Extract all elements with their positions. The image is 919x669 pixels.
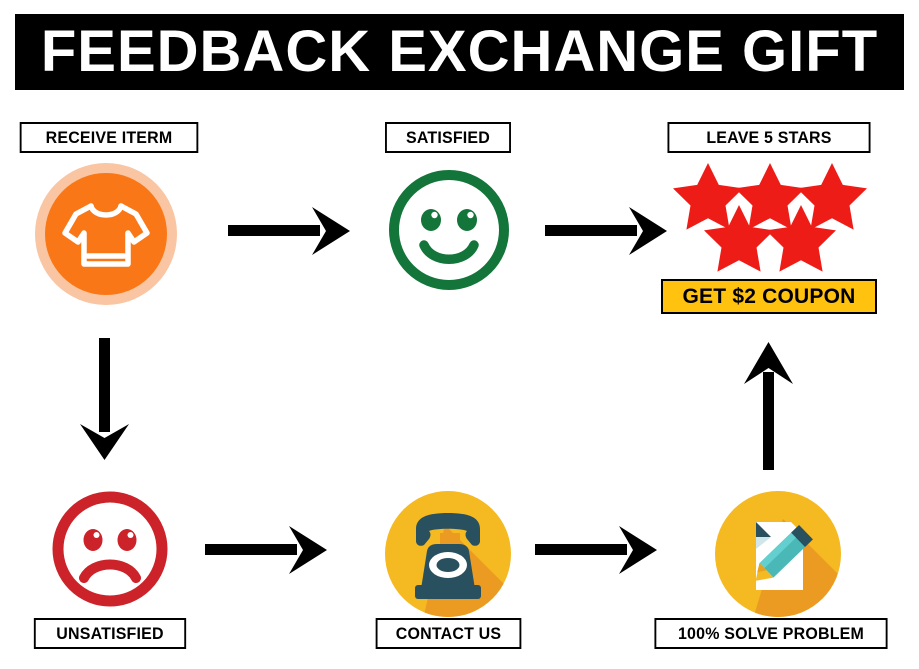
- label-satisfied-text: SATISFIED: [406, 128, 490, 148]
- label-contact-us: CONTACT US: [376, 618, 522, 649]
- arrow-receive-to-unsatisfied: [78, 338, 132, 462]
- smiley-face-icon: [384, 165, 514, 295]
- telephone-circle-icon: [383, 489, 513, 619]
- label-leave-5-stars: LEAVE 5 STARS: [667, 122, 870, 153]
- label-solve-problem-text: 100% SOLVE PROBLEM: [678, 624, 864, 644]
- arrow-contact-to-solve: [535, 524, 659, 576]
- label-receive-item-text: RECEIVE ITERM: [46, 128, 173, 148]
- label-unsatisfied: UNSATISFIED: [34, 618, 186, 649]
- label-receive-item: RECEIVE ITERM: [20, 122, 199, 153]
- arrow-unsatisfied-to-contact: [205, 524, 329, 576]
- label-solve-problem: 100% SOLVE PROBLEM: [654, 618, 887, 649]
- tshirt-circle-icon: [34, 162, 178, 306]
- arrow-receive-to-satisfied: [228, 205, 352, 257]
- label-satisfied: SATISFIED: [385, 122, 511, 153]
- five-stars-icon: [672, 163, 868, 273]
- arrow-satisfied-to-stars: [545, 205, 669, 257]
- label-leave-5-stars-text: LEAVE 5 STARS: [706, 128, 831, 148]
- label-contact-us-text: CONTACT US: [396, 624, 501, 644]
- document-pencil-circle-icon: [713, 489, 843, 619]
- page-title: FEEDBACK EXCHANGE GIFT: [41, 23, 878, 81]
- label-unsatisfied-text: UNSATISFIED: [56, 624, 163, 644]
- arrow-solve-to-coupon: [742, 336, 796, 470]
- coupon-badge-text: GET $2 COUPON: [683, 285, 856, 309]
- title-banner: FEEDBACK EXCHANGE GIFT: [15, 14, 904, 90]
- sad-face-icon: [48, 487, 172, 611]
- feedback-exchange-infographic: FEEDBACK EXCHANGE GIFT RECEIVE ITERM SAT…: [0, 0, 919, 669]
- coupon-badge[interactable]: GET $2 COUPON: [661, 279, 877, 314]
